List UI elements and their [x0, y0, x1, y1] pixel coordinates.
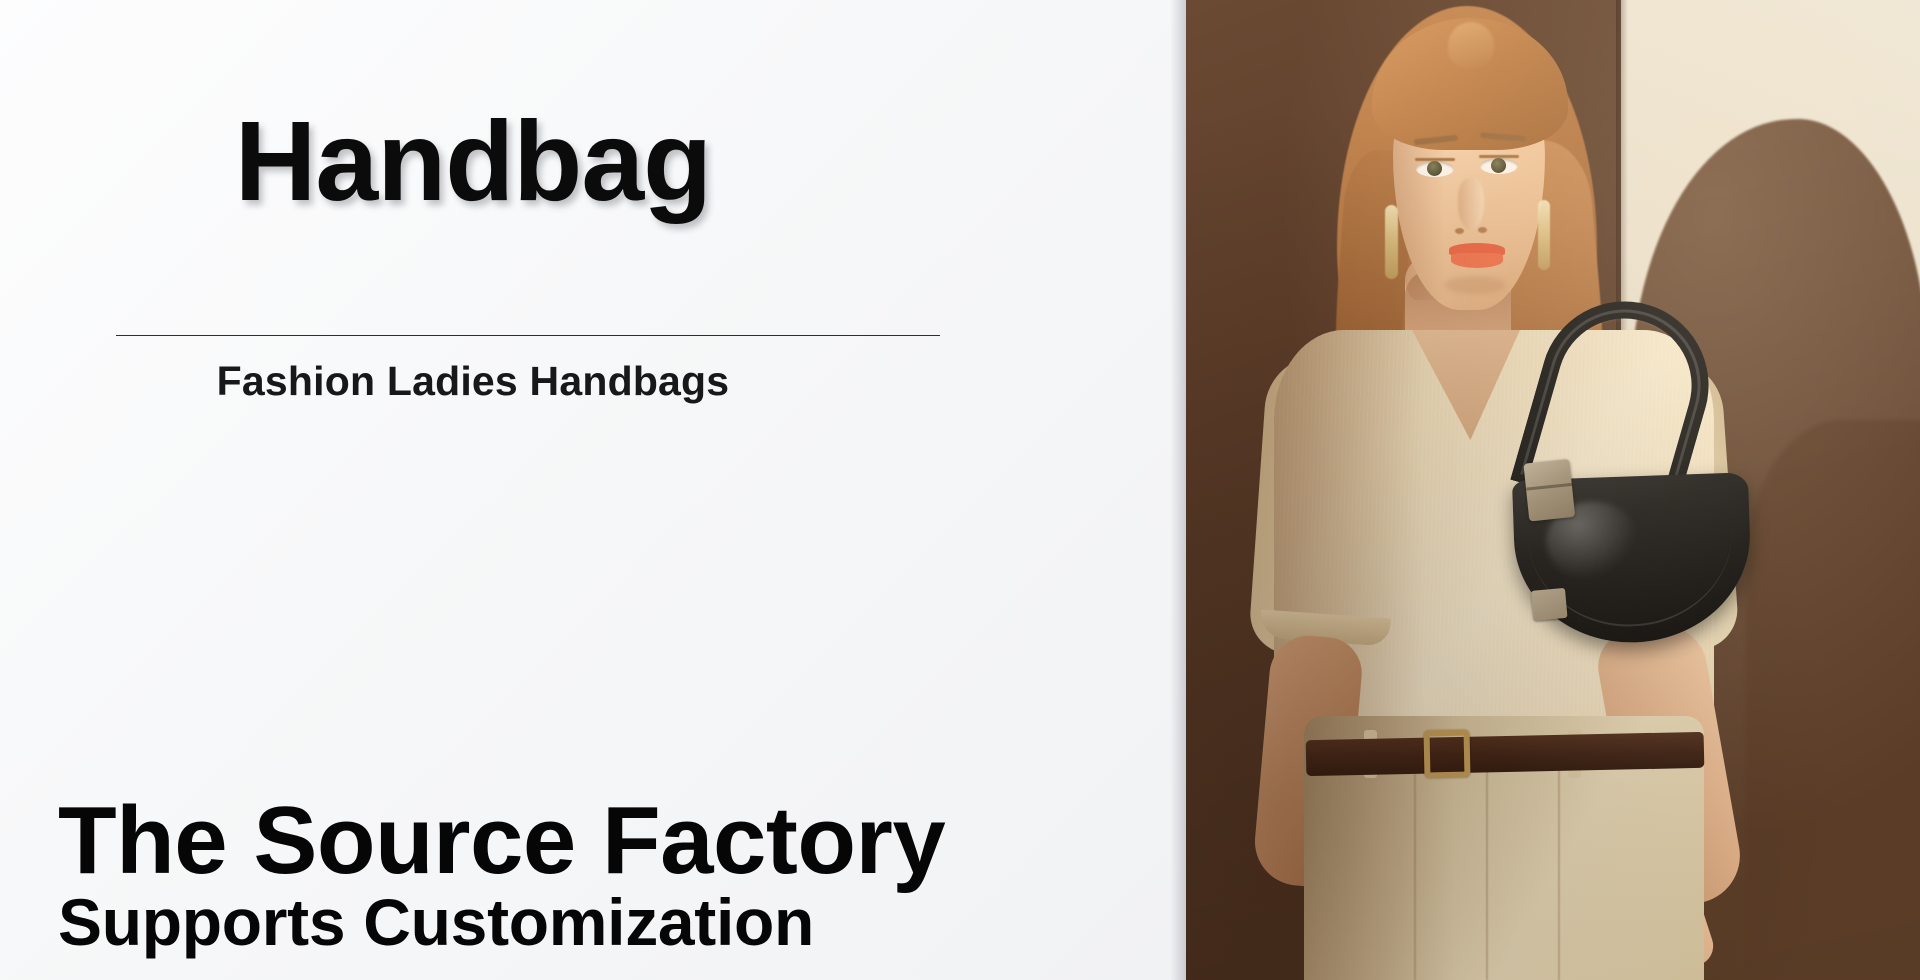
chin-shadow	[1444, 276, 1506, 294]
handbag-product	[1496, 295, 1788, 665]
handbag-metal-tag	[1531, 588, 1567, 621]
title-divider	[116, 335, 940, 336]
tagline-primary: The Source Factory	[58, 795, 1058, 887]
handbag-metal-clasp	[1523, 459, 1575, 521]
page-title: Handbag	[0, 105, 946, 218]
model-figure	[1186, 0, 1920, 980]
hair-parting	[1448, 22, 1494, 68]
subtitle: Fashion Ladies Handbags	[0, 358, 946, 405]
iris-right	[1491, 158, 1506, 173]
nostril-left	[1455, 228, 1464, 234]
product-photo	[1186, 0, 1920, 980]
nostril-right	[1478, 227, 1487, 233]
earring-left	[1385, 205, 1398, 279]
eyelid-left	[1415, 158, 1455, 161]
belt-buckle	[1424, 730, 1471, 779]
trouser-pleat-1	[1414, 760, 1416, 980]
tagline-block: The Source Factory Supports Customizatio…	[58, 795, 1058, 956]
earring-right	[1538, 200, 1550, 270]
nose	[1458, 178, 1484, 230]
lower-lip	[1451, 253, 1503, 268]
tagline-secondary: Supports Customization	[58, 889, 1058, 956]
eyelid-right	[1479, 155, 1519, 158]
trouser-pleat-2	[1486, 752, 1488, 980]
iris-left	[1427, 161, 1442, 176]
promo-banner: Handbag Fashion Ladies Handbags The Sour…	[0, 0, 1920, 980]
trouser-pleat-3	[1558, 760, 1560, 980]
text-panel: Handbag Fashion Ladies Handbags The Sour…	[0, 0, 1186, 980]
